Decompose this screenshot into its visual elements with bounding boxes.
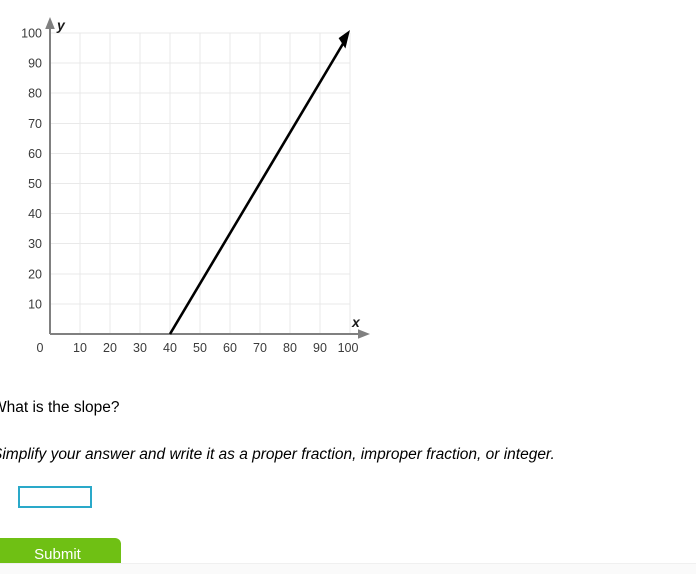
- x-axis: [50, 329, 370, 339]
- x-tick-20: 20: [103, 341, 117, 355]
- y-tick-40: 40: [28, 207, 42, 221]
- x-tick-90: 90: [313, 341, 327, 355]
- x-tick-70: 70: [253, 341, 267, 355]
- y-tick-10: 10: [28, 297, 42, 311]
- bottom-band: [0, 563, 696, 574]
- y-tick-labels: 100 90 80 70 60 50 40 30 20 10: [21, 27, 42, 312]
- x-tick-40: 40: [163, 341, 177, 355]
- y-tick-30: 30: [28, 237, 42, 251]
- y-tick-100: 100: [21, 27, 42, 41]
- x-axis-label: x: [351, 314, 361, 330]
- x-tick-0: 0: [37, 341, 44, 355]
- x-tick-50: 50: [193, 341, 207, 355]
- graph-panel: y x 100 90 80 70 60 50 40 30 20 10 0 10 …: [0, 0, 400, 375]
- question-block: What is the slope? Simplify your answer …: [0, 398, 692, 465]
- x-tick-30: 30: [133, 341, 147, 355]
- coordinate-plane-graph: y x 100 90 80 70 60 50 40 30 20 10 0 10 …: [0, 0, 400, 375]
- question-prompt: What is the slope?: [0, 398, 692, 417]
- y-axis-label: y: [56, 17, 66, 33]
- answer-input[interactable]: [18, 486, 92, 508]
- y-tick-90: 90: [28, 57, 42, 71]
- x-tick-60: 60: [223, 341, 237, 355]
- question-instruction: Simplify your answer and write it as a p…: [0, 445, 692, 464]
- y-tick-20: 20: [28, 267, 42, 281]
- y-axis: [45, 17, 55, 334]
- x-tick-80: 80: [283, 341, 297, 355]
- y-tick-60: 60: [28, 147, 42, 161]
- x-tick-10: 10: [73, 341, 87, 355]
- y-tick-80: 80: [28, 87, 42, 101]
- x-tick-labels: 0 10 20 30 40 50 60 70 80 90 100: [37, 341, 359, 355]
- y-tick-70: 70: [28, 117, 42, 131]
- y-tick-50: 50: [28, 177, 42, 191]
- x-tick-100: 100: [338, 341, 359, 355]
